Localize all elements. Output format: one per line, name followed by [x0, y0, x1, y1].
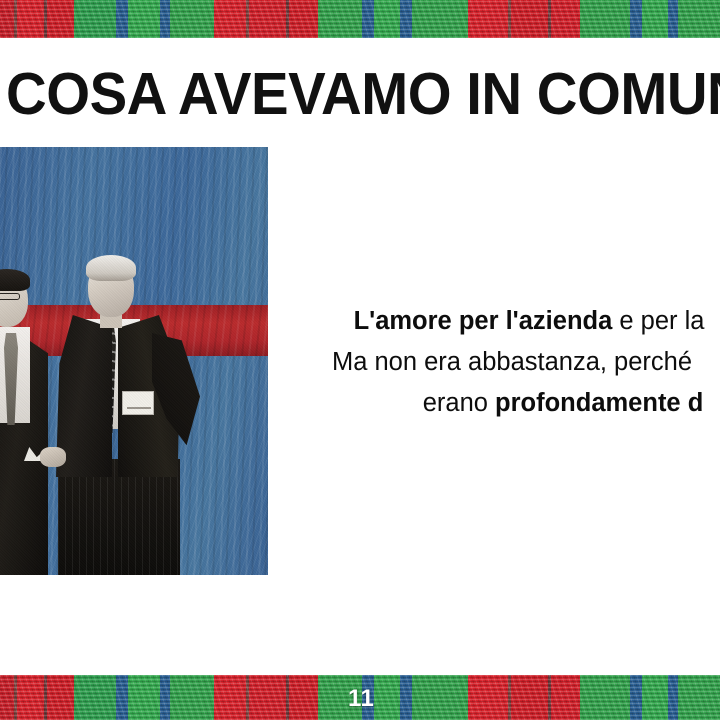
body-line-3-plain: erano	[423, 389, 495, 417]
body-line-1: L'amore per l'azienda e per la	[296, 301, 720, 342]
right-person-name-badge	[122, 391, 154, 415]
body-line-1-rest: e per la	[612, 307, 704, 335]
slide-body-text: L'amore per l'azienda e per la Ma non er…	[296, 301, 720, 424]
stripe-thread-texture-top	[0, 0, 720, 38]
body-line-2: Ma non era abbastanza, perché	[296, 342, 720, 383]
slide-photo	[0, 147, 268, 575]
body-line-3: erano profondamente d	[296, 383, 720, 424]
slide-title: COSA AVEVAMO IN COMUNE	[6, 63, 720, 125]
page-number: 11	[348, 685, 374, 713]
decorative-stripe-band-top	[0, 0, 720, 38]
right-person-hand	[40, 447, 66, 467]
body-line-1-bold: L'amore per l'azienda	[354, 307, 613, 335]
right-person-hair	[86, 255, 136, 281]
body-line-3-bold: profondamente d	[495, 389, 703, 417]
slide: COSA AVEVAMO IN COMUNE	[0, 0, 720, 720]
left-person-glasses	[0, 293, 20, 300]
